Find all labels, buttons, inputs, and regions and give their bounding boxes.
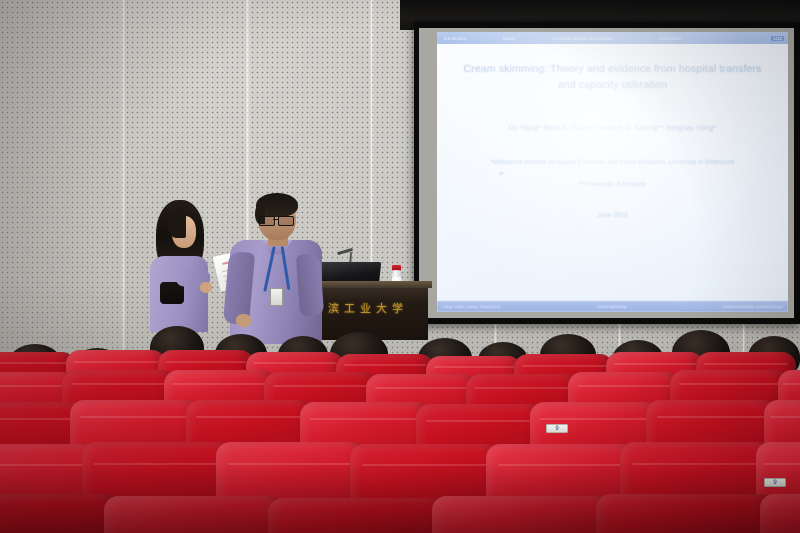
- seat-number-tag: 9: [764, 478, 786, 487]
- assistant-hair-front: [168, 208, 186, 238]
- presentation-slide[interactable]: Introduction Model Empirical Analysis an…: [437, 32, 788, 312]
- slide-footer-bar: Yang, Chan, Cheng, Yong (2019) Cream ski…: [437, 301, 788, 312]
- seat-number-tag: 9: [546, 424, 568, 433]
- seat: [268, 498, 448, 533]
- glasses-bridge: [273, 219, 278, 220]
- assistant-hand: [200, 282, 212, 293]
- projection-screen-frame: Introduction Model Empirical Analysis an…: [414, 22, 800, 324]
- slide-authors: Ou Yang* Marc K. Chan* Terence C. Cheng*…: [509, 121, 717, 135]
- slide-footer-shorttitle: Cream skimming: [597, 304, 626, 309]
- slide-nav-section-conclusion[interactable]: Conclusion: [659, 36, 681, 41]
- auditorium-presentation-photo: Introduction Model Empirical Analysis an…: [0, 0, 800, 533]
- cursor-icon: ↶: [499, 171, 505, 177]
- seat: [104, 496, 284, 533]
- slide-navigation-bar: Introduction Model Empirical Analysis an…: [437, 32, 788, 44]
- slide-nav-section-model[interactable]: Model: [503, 36, 515, 41]
- person-assistant: [150, 200, 212, 332]
- slide-content: Cream skimming: Theory and evidence from…: [437, 44, 788, 301]
- audience-seating: 9 9: [0, 318, 800, 533]
- presenter-right-arm: [296, 253, 324, 317]
- slide-affiliation-primary: *Melbourne Institute of Applied Economic…: [490, 157, 734, 169]
- name-badge: [270, 288, 283, 306]
- slide-footer-citation: Yang, Chan, Cheng, Yong (2019): [443, 304, 500, 309]
- slide-date: June 2019: [598, 212, 628, 219]
- seat: [760, 494, 800, 533]
- slide-footer-institute-url: melbourneinstitute.unimelb.edu.au: [723, 304, 782, 309]
- slide-affiliation-secondary: ** University of Adelaide: [579, 181, 646, 188]
- slide-page-indicator: 1/12: [771, 36, 784, 41]
- seat: [0, 494, 120, 533]
- slide-title: Cream skimming: Theory and evidence from…: [463, 62, 763, 93]
- seat: [432, 496, 612, 533]
- seat: [596, 494, 776, 533]
- projection-screen-surface: Introduction Model Empirical Analysis an…: [419, 28, 794, 318]
- slide-nav-section-empirical-analysis[interactable]: Empirical Analysis and Results: [553, 36, 613, 41]
- slide-nav-section-introduction[interactable]: Introduction: [444, 36, 467, 41]
